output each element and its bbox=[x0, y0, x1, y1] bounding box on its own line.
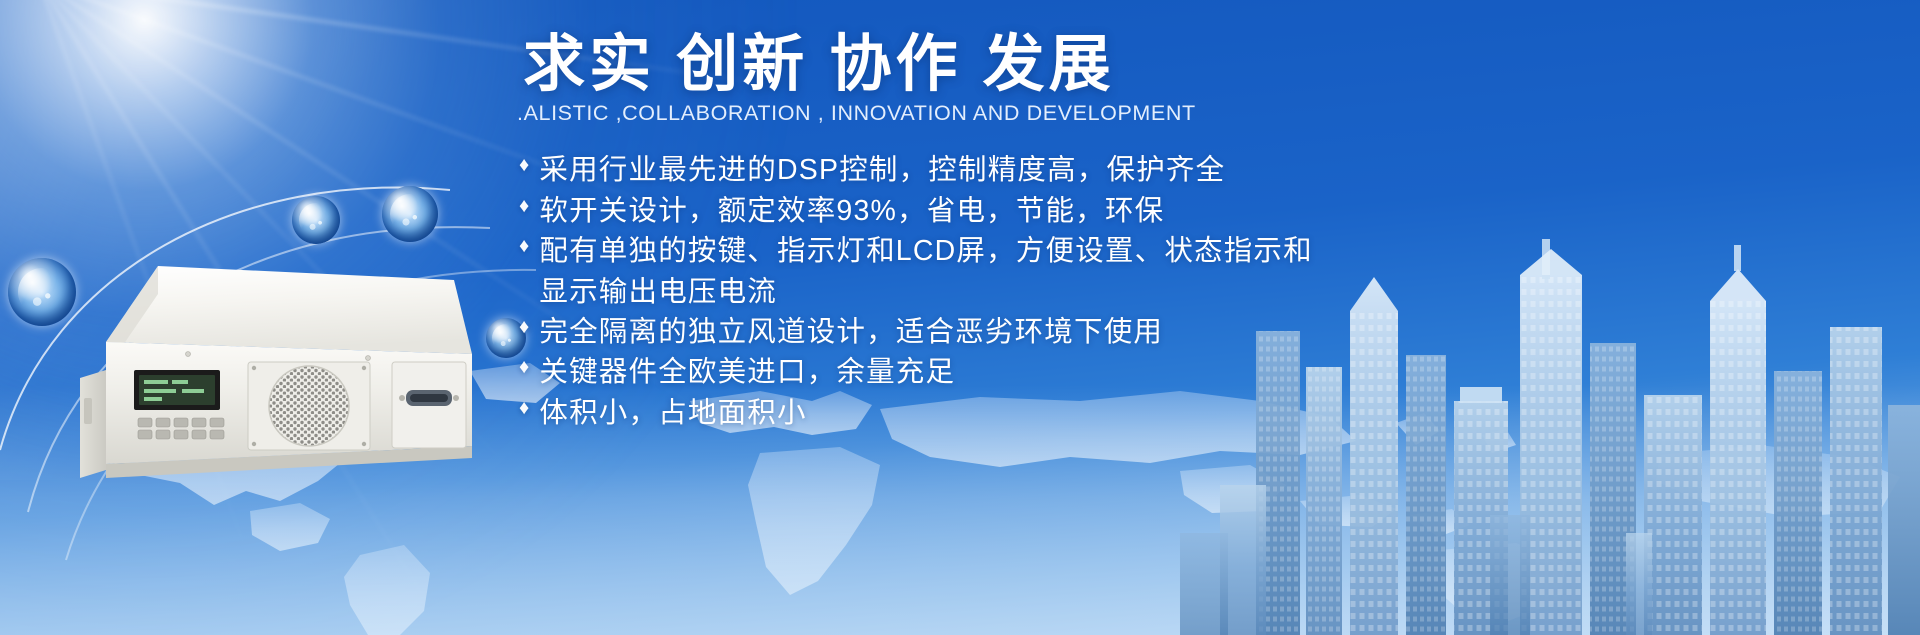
feature-text: 配有单独的按键、指示灯和LCD屏，方便设置、状态指示和 bbox=[539, 231, 1455, 271]
product-device bbox=[62, 258, 482, 518]
feature-item: ♦ 关键器件全欧美进口，余量充足 bbox=[519, 352, 1455, 392]
feature-list: ♦ 采用行业最先进的DSP控制，控制精度高，保护齐全 ♦ 软开关设计，额定效率9… bbox=[519, 150, 1455, 433]
subheadline: .ALISTIC ,COLLABORATION , INNOVATION AND… bbox=[517, 101, 1455, 126]
feature-item: ♦ 配有单独的按键、指示灯和LCD屏，方便设置、状态指示和 bbox=[519, 231, 1455, 271]
feature-text: 采用行业最先进的DSP控制，控制精度高，保护齐全 bbox=[539, 150, 1455, 190]
feature-text: 体积小，占地面积小 bbox=[539, 393, 1455, 433]
diamond-bullet-icon: ♦ bbox=[519, 352, 530, 383]
feature-item-continuation: ♦ 显示输出电压电流 bbox=[519, 272, 1455, 312]
feature-item: ♦ 软开关设计，额定效率93%，省电，节能，环保 bbox=[519, 191, 1455, 231]
banner-root: 求实 创新 协作 发展 .ALISTIC ,COLLABORATION , IN… bbox=[0, 0, 1920, 635]
copy-block: 求实 创新 协作 发展 .ALISTIC ,COLLABORATION , IN… bbox=[505, 14, 1455, 433]
feature-item: ♦ 体积小，占地面积小 bbox=[519, 393, 1455, 433]
feature-text: 关键器件全欧美进口，余量充足 bbox=[539, 352, 1455, 392]
diamond-bullet-icon: ♦ bbox=[519, 191, 530, 222]
headline: 求实 创新 协作 发展 bbox=[523, 32, 1455, 97]
feature-text: 显示输出电压电流 bbox=[539, 272, 1455, 312]
device-chassis bbox=[62, 258, 482, 518]
diamond-bullet-icon: ♦ bbox=[519, 393, 530, 424]
feature-text: 软开关设计，额定效率93%，省电，节能，环保 bbox=[539, 191, 1455, 231]
feature-item: ♦ 采用行业最先进的DSP控制，控制精度高，保护齐全 bbox=[519, 150, 1455, 190]
diamond-bullet-icon: ♦ bbox=[519, 312, 530, 343]
diamond-bullet-icon: ♦ bbox=[519, 231, 530, 262]
diamond-bullet-icon: ♦ bbox=[519, 150, 530, 181]
feature-text: 完全隔离的独立风道设计，适合恶劣环境下使用 bbox=[539, 312, 1455, 352]
globe-icon bbox=[382, 186, 438, 242]
globe-icon bbox=[292, 196, 340, 244]
feature-item: ♦ 完全隔离的独立风道设计，适合恶劣环境下使用 bbox=[519, 312, 1455, 352]
